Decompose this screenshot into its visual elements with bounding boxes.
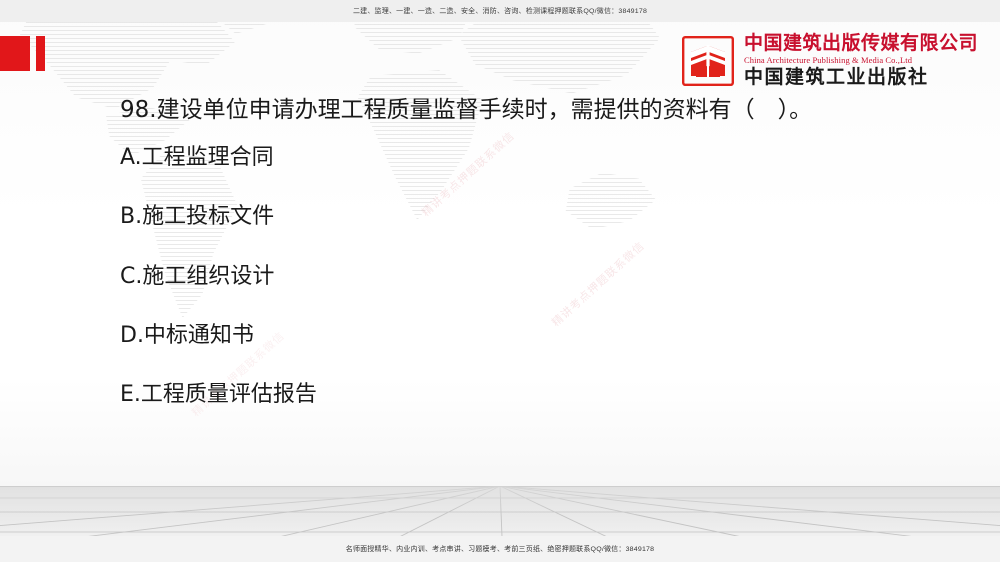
presentation-slide: 精讲考点押题联系微信 精讲考点押题联系微信 精讲考点押题联系微信 中国建筑出版传…	[0, 0, 1000, 562]
option-list: A.工程监理合同 B.施工投标文件 C.施工组织设计 D.中标通知书 E.工程质…	[120, 145, 920, 409]
option-b[interactable]: B.施工投标文件	[120, 204, 920, 230]
bottom-promo-banner: 名师面授精华、内业内训、考点串讲、习题模考、考前三页纸、绝密押题联系QQ/微信：…	[0, 536, 1000, 562]
logo-text-block: 中国建筑出版传媒有限公司 China Architecture Publishi…	[744, 33, 978, 88]
option-e[interactable]: E.工程质量评估报告	[120, 382, 920, 408]
book-emblem-icon	[682, 36, 734, 86]
top-promo-banner: 二建、监理、一建、一造、二造、安全、消防、咨询、检测课程押题联系QQ/微信：38…	[0, 0, 1000, 22]
publisher-logo: 中国建筑出版传媒有限公司 China Architecture Publishi…	[682, 30, 978, 92]
question-content: 98.建设单位申请办理工程质量监督手续时，需提供的资料有（ ）。 A.工程监理合…	[120, 96, 920, 409]
logo-company-cn: 中国建筑出版传媒有限公司	[744, 33, 978, 54]
red-square-accent	[0, 36, 30, 71]
option-d[interactable]: D.中标通知书	[120, 323, 920, 349]
question-title: 98.建设单位申请办理工程质量监督手续时，需提供的资料有（ ）。	[120, 96, 920, 125]
logo-press-cn: 中国建筑工业出版社	[744, 66, 978, 89]
bottom-promo-text: 名师面授精华、内业内训、考点串讲、习题模考、考前三页纸、绝密押题联系QQ/微信：…	[346, 544, 655, 554]
logo-company-en: China Architecture Publishing & Media Co…	[744, 55, 978, 65]
option-a[interactable]: A.工程监理合同	[120, 145, 920, 171]
red-bar-accent	[36, 36, 45, 71]
top-promo-text: 二建、监理、一建、一造、二造、安全、消防、咨询、检测课程押题联系QQ/微信：38…	[353, 6, 647, 16]
option-c[interactable]: C.施工组织设计	[120, 264, 920, 290]
